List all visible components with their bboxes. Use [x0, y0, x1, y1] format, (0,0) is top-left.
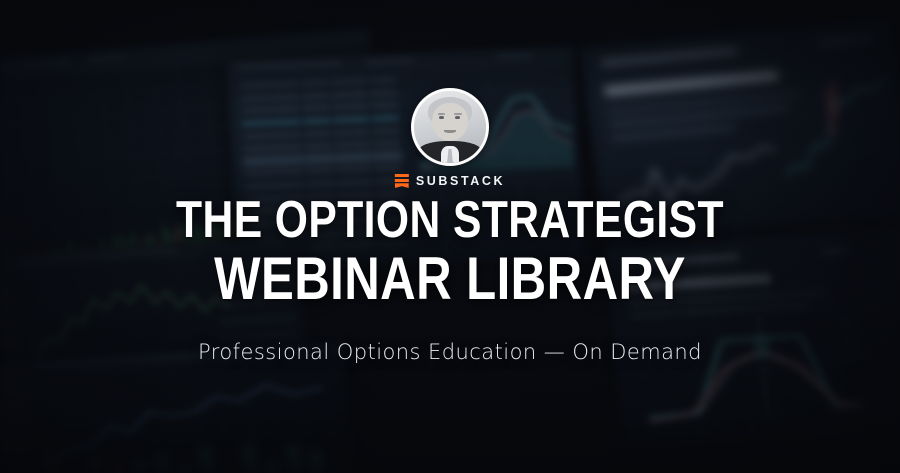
page-title: THE OPTION STRATEGIST WEBINAR LIBRARY — [0, 197, 900, 306]
headline-line-2: WEBINAR LIBRARY — [81, 251, 819, 306]
substack-logo-icon — [395, 174, 409, 188]
hero-content: SUBSTACK THE OPTION STRATEGIST WEBINAR L… — [0, 0, 900, 473]
substack-wordmark: SUBSTACK — [416, 175, 505, 188]
page-subtitle: Professional Options Education — On Dema… — [0, 340, 900, 364]
substack-badge: SUBSTACK — [395, 174, 505, 188]
headline-line-1: THE OPTION STRATEGIST — [81, 197, 819, 245]
webinar-library-hero-banner: SUBSTACK THE OPTION STRATEGIST WEBINAR L… — [0, 0, 900, 473]
author-portrait-avatar — [411, 88, 489, 166]
avatar — [411, 88, 489, 166]
